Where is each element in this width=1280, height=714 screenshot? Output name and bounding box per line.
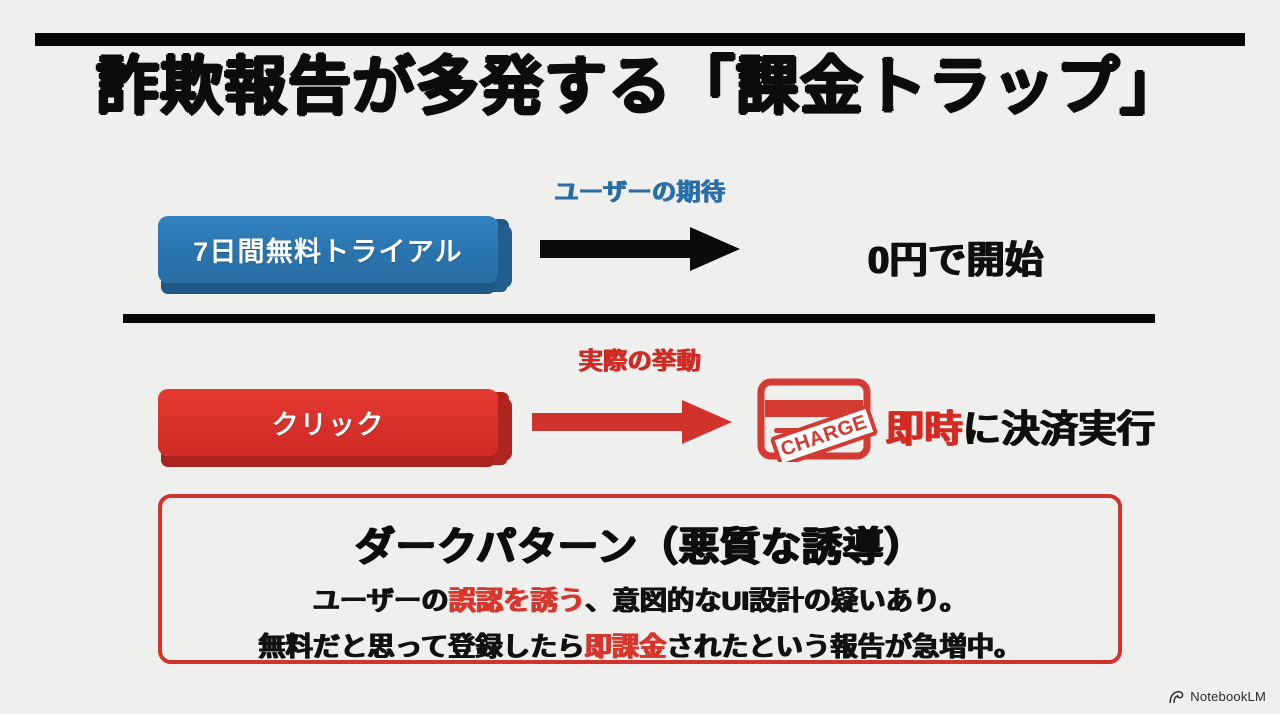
slide-canvas: 詐欺報告が多発する「課金トラップ」 ユーザーの期待 7日間無料トライアル 0円で… [0,0,1280,714]
free-trial-button-label: 7日間無料トライアル [193,230,463,269]
dark-pattern-title: ダークパターン（悪質な誘導） [162,514,1118,572]
credit-card-charge-icon: CHARGE [756,376,878,462]
notebooklm-watermark: NotebookLM [1169,689,1266,704]
actual-arrow-icon [532,400,732,444]
free-trial-button[interactable]: 7日間無料トライアル [158,216,498,283]
dark-pattern-callout-box: ダークパターン（悪質な誘導） ユーザーの誤認を誘う、意図的なUI設計の疑いあり。… [158,494,1122,664]
middle-divider-rule [123,314,1155,323]
line1-post: 、意図的なUI設計の疑いあり。 [585,586,967,616]
dark-pattern-line-2: 無料だと思って登録したら即課金されたという報告が急増中。 [162,625,1118,664]
expectation-result-text: 0円で開始 [868,229,1044,284]
expectation-arrow-icon [540,227,740,271]
dark-pattern-line-1: ユーザーの誤認を誘う、意図的なUI設計の疑いあり。 [162,579,1118,618]
page-title: 詐欺報告が多発する「課金トラップ」 [0,56,1280,119]
actual-result-rest: に決済実行 [963,409,1156,451]
line2-post: されたという報告が急増中。 [667,632,1022,662]
actual-result-text: 即時に決済実行 [886,398,1156,453]
expectation-row: 7日間無料トライアル [0,195,1280,315]
click-button[interactable]: クリック [158,389,498,456]
line1-pre: ユーザーの [313,586,449,616]
line2-pre: 無料だと思って登録したら [258,632,584,662]
line2-highlight: 即課金 [585,632,667,662]
line1-highlight: 誤認を誘う [449,586,586,616]
notebooklm-logo-icon [1169,690,1184,704]
notebooklm-watermark-label: NotebookLM [1190,689,1266,704]
actual-result-highlight: 即時 [886,409,963,451]
top-divider-rule [35,33,1245,46]
click-button-label: クリック [272,403,385,442]
